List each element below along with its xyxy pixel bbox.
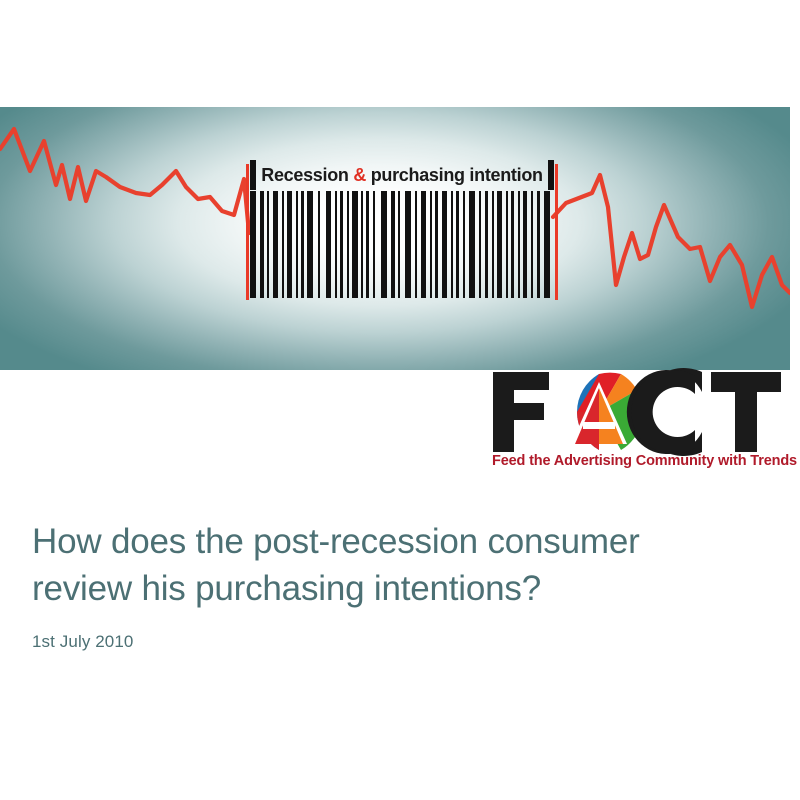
page-title: How does the post-recession consumerrevi… [32, 518, 772, 612]
barcode-end-bar-right [548, 160, 554, 190]
logo-letter-t [711, 372, 781, 452]
publication-date: 1st July 2010 [32, 632, 772, 652]
barcode-title-part-1: Recession [261, 165, 353, 185]
page-title-line-2: review his purchasing intentions? [32, 569, 541, 608]
barcode-title-text: Recession & purchasing intention [256, 165, 548, 185]
chart-line-right [553, 175, 790, 307]
barcode-bars [250, 191, 554, 298]
barcode-guard-left [246, 164, 249, 300]
title-block: How does the post-recession consumerrevi… [32, 518, 772, 652]
barcode-title-part-2: purchasing intention [366, 165, 543, 185]
barcode-title-row: Recession & purchasing intention [250, 160, 554, 190]
logo-letter-f [493, 372, 549, 452]
hero-banner: Recession & purchasing intention [0, 107, 790, 370]
barcode-guard-right [555, 164, 558, 300]
barcode-ampersand: & [353, 165, 366, 185]
logo-tagline: Feed the Advertising Community with Tren… [492, 453, 789, 469]
fact-wordmark [489, 368, 789, 456]
page-title-line-1: How does the post-recession consumer [32, 522, 640, 561]
fact-logo: Feed the Advertising Community with Tren… [489, 368, 789, 480]
barcode: Recession & purchasing intention [246, 160, 558, 300]
chart-line-left [0, 129, 249, 233]
